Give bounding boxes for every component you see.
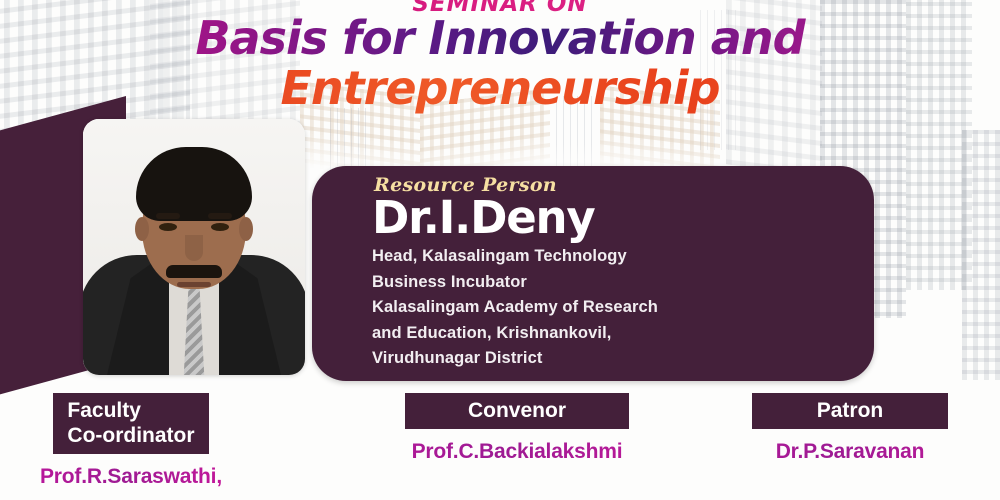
portrait-eye-right [211, 223, 229, 231]
role-title-badge: Patron [752, 393, 948, 429]
role-person-name: Prof.R.Saraswathi, [40, 465, 222, 489]
portrait-nose [185, 235, 203, 261]
portrait-ear-right [239, 217, 253, 241]
building-right-lines [700, 10, 740, 150]
role-title-badge: Convenor [405, 393, 629, 429]
portrait-hair [136, 147, 252, 221]
affiliation-line: Head, Kalasalingam Technology [372, 244, 842, 270]
affiliation-line: Business Incubator [372, 270, 842, 296]
portrait-mouth [177, 282, 211, 287]
role-convenor: Convenor Prof.C.Backialakshmi [352, 393, 682, 464]
portrait-eye-left [159, 223, 177, 231]
affiliation-line: and Education, Krishnankovil, [372, 321, 842, 347]
speaker-portrait-image [83, 119, 305, 375]
role-patron: Patron Dr.P.Saravanan [700, 393, 1000, 464]
role-person-name: Prof.C.Backialakshmi [352, 440, 682, 464]
speaker-photo [83, 119, 305, 375]
building-right-edge [962, 130, 1000, 380]
resource-person-name: Dr.I.Deny [372, 192, 595, 244]
seminar-poster: SEMINAR ON Basis for Innovation and Entr… [0, 0, 1000, 500]
portrait-eyebrow-right [208, 213, 232, 219]
role-title-badge: Faculty Co-ordinator [53, 393, 208, 454]
portrait-eyebrow-left [156, 213, 180, 219]
portrait-ear-left [135, 217, 149, 241]
role-faculty-coordinator: Faculty Co-ordinator Prof.R.Saraswathi, [40, 393, 222, 489]
resource-person-affiliation: Head, Kalasalingam Technology Business I… [372, 244, 842, 372]
building-right-tall [726, 0, 822, 176]
resource-person-card: Resource Person Dr.I.Deny Head, Kalasali… [312, 166, 874, 381]
role-person-name: Dr.P.Saravanan [700, 440, 1000, 464]
affiliation-line: Kalasalingam Academy of Research [372, 295, 842, 321]
affiliation-line: Virudhunagar District [372, 346, 842, 372]
portrait-moustache [166, 265, 222, 278]
